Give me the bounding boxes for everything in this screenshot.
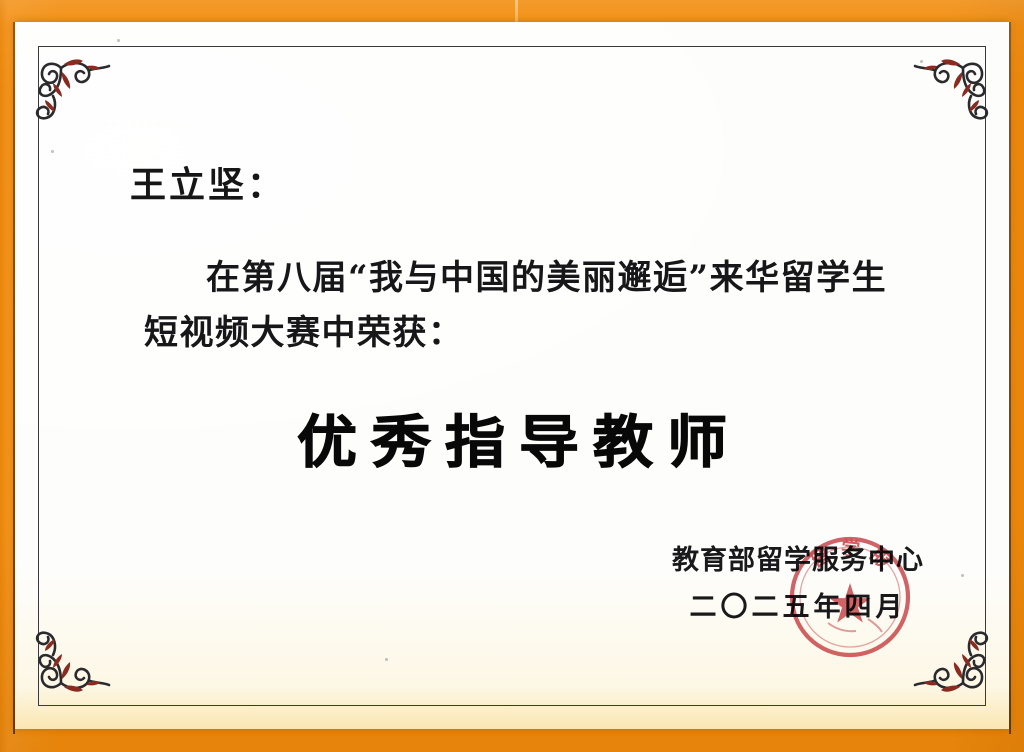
issue-date: 二〇二五年四月 [672, 585, 924, 624]
issuing-organization: 教育部留学服务中心 [672, 538, 924, 577]
certificate-content: 王立坚： 在第八届“我与中国的美丽邂逅”来华留学生 短视频大赛中荣获： 优秀指导… [38, 46, 986, 706]
cover-edge-right [1009, 22, 1011, 734]
paper-speck [117, 39, 120, 42]
award-title: 优秀指导教师 [38, 397, 986, 479]
certificate-paper: 王立坚： 在第八届“我与中国的美丽邂逅”来华留学生 短视频大赛中荣获： 优秀指导… [15, 22, 1009, 729]
recipient-name: 王立坚： [130, 156, 286, 208]
citation-line-1: 在第八届“我与中国的美丽邂逅”来华留学生 [98, 251, 1024, 305]
signature-block: 教育部留学服务中心 二〇二五年四月 [672, 538, 924, 624]
citation-line-2: 短视频大赛中荣获： [98, 306, 1024, 360]
certificate-image: 王立坚： 在第八届“我与中国的美丽邂逅”来华留学生 短视频大赛中荣获： 优秀指导… [0, 0, 1024, 752]
